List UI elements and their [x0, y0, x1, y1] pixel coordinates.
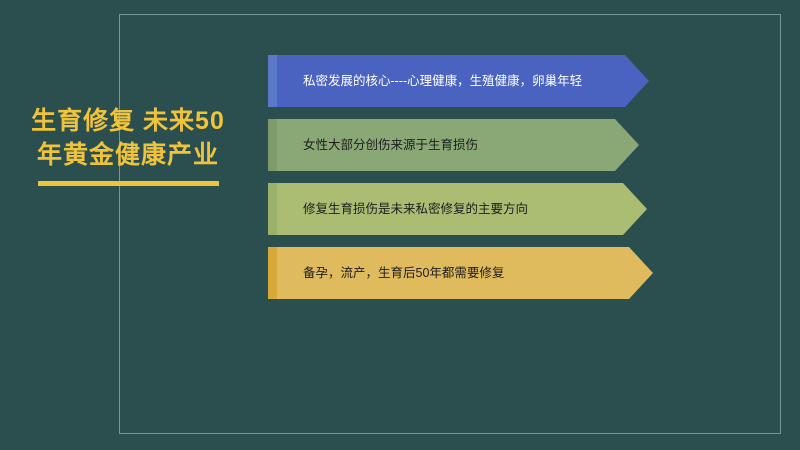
arrow-body: 备孕，流产，生育后50年都需要修复	[277, 247, 629, 299]
list-item[interactable]: 修复生育损伤是未来私密修复的主要方向	[268, 183, 698, 235]
arrow-body: 修复生育损伤是未来私密修复的主要方向	[277, 183, 623, 235]
arrow-cap	[268, 183, 277, 235]
page-title: 生育修复 未来50年黄金健康产业	[20, 104, 236, 172]
list-item-label: 私密发展的核心----心理健康，生殖健康，卵巢年轻	[303, 74, 582, 89]
arrow-cap	[268, 119, 277, 171]
arrow-tip	[625, 55, 649, 107]
arrow-cap	[268, 55, 277, 107]
arrow-tip	[615, 119, 639, 171]
list-item[interactable]: 女性大部分创伤来源于生育损伤	[268, 119, 698, 171]
arrow-tip	[623, 183, 647, 235]
arrow-shape-1: 私密发展的核心----心理健康，生殖健康，卵巢年轻	[268, 55, 649, 107]
list-item[interactable]: 私密发展的核心----心理健康，生殖健康，卵巢年轻	[268, 55, 698, 107]
title-underline	[38, 181, 219, 186]
arrow-body: 私密发展的核心----心理健康，生殖健康，卵巢年轻	[277, 55, 625, 107]
slide-canvas: 生育修复 未来50年黄金健康产业 私密发展的核心----心理健康，生殖健康，卵巢…	[0, 0, 800, 450]
list-item[interactable]: 备孕，流产，生育后50年都需要修复	[268, 247, 698, 299]
arrow-body: 女性大部分创伤来源于生育损伤	[277, 119, 615, 171]
arrow-cap	[268, 247, 277, 299]
list-item-label: 备孕，流产，生育后50年都需要修复	[303, 266, 504, 281]
arrow-shape-2: 女性大部分创伤来源于生育损伤	[268, 119, 639, 171]
arrow-tip	[629, 247, 653, 299]
list-item-label: 女性大部分创伤来源于生育损伤	[303, 138, 478, 153]
arrow-shape-3: 修复生育损伤是未来私密修复的主要方向	[268, 183, 647, 235]
arrow-shape-4: 备孕，流产，生育后50年都需要修复	[268, 247, 653, 299]
title-block: 生育修复 未来50年黄金健康产业	[20, 104, 236, 186]
arrow-list: 私密发展的核心----心理健康，生殖健康，卵巢年轻 女性大部分创伤来源于生育损伤…	[268, 55, 698, 311]
list-item-label: 修复生育损伤是未来私密修复的主要方向	[303, 202, 528, 217]
